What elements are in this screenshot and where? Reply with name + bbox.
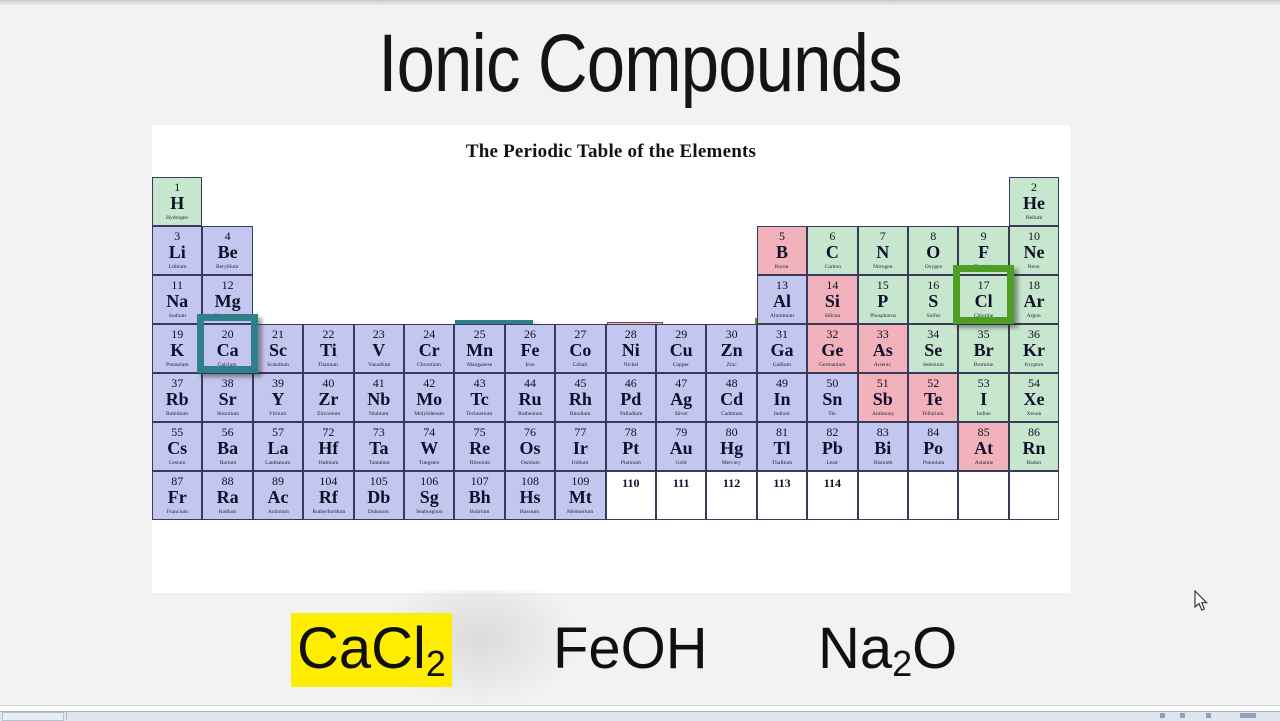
element-name: Sodium xyxy=(169,312,186,319)
element-symbol: Fe xyxy=(521,341,540,360)
element-name: Gallium xyxy=(773,361,791,368)
periodic-table-title: The Periodic Table of the Elements xyxy=(152,141,1070,163)
element-cell-cu[interactable]: 29CuCopper xyxy=(656,324,706,373)
element-symbol: Ti xyxy=(320,341,337,360)
element-cell-cd[interactable]: 48CdCadmium xyxy=(706,373,756,422)
element-cell-la[interactable]: 57LaLanthanum xyxy=(253,422,303,471)
atomic-number: 19 xyxy=(171,327,183,341)
element-cell-112[interactable]: 112 xyxy=(706,471,756,520)
element-cell-rh[interactable]: 45RhRhodium xyxy=(555,373,605,422)
atomic-number: 4 xyxy=(225,229,231,243)
atomic-number: 21 xyxy=(272,327,284,341)
element-cell-na[interactable]: 11NaSodium xyxy=(152,275,202,324)
element-cell-empty[interactable] xyxy=(958,471,1008,520)
element-symbol: Mn xyxy=(466,341,493,360)
atomic-number: 2 xyxy=(1031,180,1037,194)
element-cell-at[interactable]: 85AtAstatine xyxy=(958,422,1008,471)
atomic-number: 12 xyxy=(222,278,234,292)
element-cell-ac[interactable]: 89AcActinium xyxy=(253,471,303,520)
element-cell-pb[interactable]: 82PbLead xyxy=(807,422,857,471)
element-cell-hg[interactable]: 80HgMercury xyxy=(706,422,756,471)
element-name: Hassium xyxy=(520,508,539,515)
element-name: Zirconium xyxy=(317,410,340,417)
element-symbol: Rh xyxy=(569,390,592,409)
element-name: Ruthenium xyxy=(518,410,543,417)
element-name: Iridium xyxy=(572,459,589,466)
element-symbol: Mg xyxy=(215,292,241,311)
atomic-number: 5 xyxy=(779,229,785,243)
element-name: Antimony xyxy=(872,410,894,417)
atomic-number: 57 xyxy=(272,425,284,439)
element-name: Technetium xyxy=(467,410,493,417)
element-cell-mg[interactable]: 12MgMagnesium xyxy=(202,275,252,324)
atomic-number: 50 xyxy=(826,376,838,390)
atomic-number: 78 xyxy=(625,425,637,439)
atomic-number: 81 xyxy=(776,425,788,439)
element-symbol: Nb xyxy=(367,390,390,409)
element-cell-as[interactable]: 33AsArsenic xyxy=(858,324,908,373)
atomic-number: 6 xyxy=(829,229,835,243)
element-cell-mn[interactable]: 25MnManganese xyxy=(454,324,504,373)
formula-text: CaCl xyxy=(297,616,426,681)
atomic-number: 35 xyxy=(978,327,990,341)
element-name: Boron xyxy=(775,263,789,270)
element-symbol: Sr xyxy=(219,390,237,409)
element-symbol: Tc xyxy=(470,390,488,409)
atomic-number: 79 xyxy=(675,425,687,439)
atomic-number: 83 xyxy=(877,425,889,439)
element-cell-te[interactable]: 52TeTellurium xyxy=(908,373,958,422)
element-symbol: Fr xyxy=(168,488,187,507)
atomic-number: 76 xyxy=(524,425,536,439)
taskbar-clock[interactable] xyxy=(1240,713,1256,718)
taskbar-divider xyxy=(66,712,67,719)
element-name: Iron xyxy=(525,361,534,368)
element-cell-si[interactable]: 14SiSilicon xyxy=(807,275,857,324)
element-cell-ir[interactable]: 77IrIridium xyxy=(555,422,605,471)
element-symbol: Sc xyxy=(269,341,287,360)
element-symbol: Cd xyxy=(720,390,743,409)
taskbar-icon-2[interactable] xyxy=(1180,713,1185,718)
atomic-number: 52 xyxy=(927,376,939,390)
element-name: Rhenium xyxy=(469,459,489,466)
atomic-number: 34 xyxy=(927,327,939,341)
element-symbol: Ni xyxy=(622,341,640,360)
element-cell-ne[interactable]: 10NeNeon xyxy=(1009,226,1059,275)
atomic-number: 29 xyxy=(675,327,687,341)
element-cell-tl[interactable]: 81TlThallium xyxy=(757,422,807,471)
element-name: Neon xyxy=(1028,263,1040,270)
element-cell-b[interactable]: 5BBoron xyxy=(757,226,807,275)
element-cell-db[interactable]: 105DbDubnium xyxy=(354,471,404,520)
element-name: Phosphorus xyxy=(870,312,896,319)
element-symbol: Cr xyxy=(419,341,440,360)
element-cell-110[interactable]: 110 xyxy=(606,471,656,520)
element-name: Aluminum xyxy=(770,312,794,319)
element-name: Molybdenum xyxy=(414,410,444,417)
atomic-number: 1 xyxy=(174,180,180,194)
element-name: Osmium xyxy=(520,459,539,466)
element-cell-al[interactable]: 13AlAluminum xyxy=(757,275,807,324)
element-cell-ra[interactable]: 88RaRadium xyxy=(202,471,252,520)
slide-area: Ionic Compounds The Periodic Table of th… xyxy=(0,5,1280,705)
atomic-number: 75 xyxy=(474,425,486,439)
element-cell-sr[interactable]: 38SrStrontium xyxy=(202,373,252,422)
element-cell-114[interactable]: 114 xyxy=(807,471,857,520)
element-symbol: K xyxy=(170,341,184,360)
atomic-number: 40 xyxy=(322,376,334,390)
element-cell-ni[interactable]: 28NiNickel xyxy=(606,324,656,373)
element-symbol: Hf xyxy=(318,439,338,458)
element-cell-br[interactable]: 35BrBromine xyxy=(958,324,1008,373)
element-name: Barium xyxy=(219,459,236,466)
element-symbol: Ge xyxy=(821,341,843,360)
element-cell-sc[interactable]: 21ScScandium xyxy=(253,324,303,373)
element-symbol: W xyxy=(420,439,438,458)
element-symbol: Ir xyxy=(573,439,588,458)
atomic-number: 44 xyxy=(524,376,536,390)
element-cell-ga[interactable]: 31GaGallium xyxy=(757,324,807,373)
element-name: Titanium xyxy=(318,361,338,368)
element-symbol: Cl xyxy=(975,292,993,311)
element-name: Tungsten xyxy=(419,459,439,466)
element-name: Selenium xyxy=(923,361,944,368)
element-symbol: He xyxy=(1023,194,1045,213)
element-symbol: Ar xyxy=(1023,292,1044,311)
atomic-number: 30 xyxy=(726,327,738,341)
element-cell-o[interactable]: 8OOxygen xyxy=(908,226,958,275)
element-cell-cl[interactable]: 17ClChlorine xyxy=(958,275,1008,324)
element-symbol: Ne xyxy=(1023,243,1044,262)
element-cell-k[interactable]: 19KPotassium xyxy=(152,324,202,373)
element-symbol: Sn xyxy=(822,390,842,409)
atomic-number: 25 xyxy=(474,327,486,341)
atomic-number: 20 xyxy=(222,327,234,341)
element-symbol: Db xyxy=(367,488,390,507)
element-name: Copper xyxy=(673,361,689,368)
element-symbol: Bi xyxy=(874,439,891,458)
element-name: Rubidium xyxy=(166,410,188,417)
atomic-number: 73 xyxy=(373,425,385,439)
element-cell-empty[interactable] xyxy=(908,471,958,520)
element-name: Potassium xyxy=(166,361,189,368)
atomic-number: 22 xyxy=(322,327,334,341)
element-symbol: Rf xyxy=(319,488,338,507)
element-cell-fr[interactable]: 87FrFrancium xyxy=(152,471,202,520)
element-symbol: Ca xyxy=(217,341,239,360)
element-name: Arsenic xyxy=(874,361,891,368)
element-cell-ta[interactable]: 73TaTantalum xyxy=(354,422,404,471)
element-cell-w[interactable]: 74WTungsten xyxy=(404,422,454,471)
element-cell-empty[interactable] xyxy=(1009,471,1059,520)
element-cell-f[interactable]: 9FFluorine xyxy=(958,226,1008,275)
periodic-table-panel: The Periodic Table of the Elements Metal… xyxy=(152,125,1070,593)
atomic-number: 45 xyxy=(574,376,586,390)
element-symbol: Hg xyxy=(720,439,743,458)
element-cell-c[interactable]: 6CCarbon xyxy=(807,226,857,275)
formula-text: FeOH xyxy=(553,616,708,681)
element-name: Cadmium xyxy=(721,410,743,417)
element-symbol: O xyxy=(926,243,940,262)
element-cell-113[interactable]: 113 xyxy=(757,471,807,520)
element-symbol: Re xyxy=(469,439,490,458)
element-cell-zr[interactable]: 40ZrZirconium xyxy=(303,373,353,422)
atomic-number: 104 xyxy=(319,474,337,488)
element-name: Yttrium xyxy=(269,410,286,417)
element-cell-mt[interactable]: 109MtMeitnerium xyxy=(555,471,605,520)
element-name: Sulfur xyxy=(926,312,940,319)
element-symbol: C xyxy=(826,243,839,262)
atomic-number: 7 xyxy=(880,229,886,243)
formula-subscript: 2 xyxy=(892,643,912,684)
element-symbol: Ag xyxy=(670,390,692,409)
element-symbol: La xyxy=(267,439,288,458)
element-name: Germanium xyxy=(819,361,845,368)
atomic-number: 84 xyxy=(927,425,939,439)
atomic-number: 114 xyxy=(824,476,841,490)
element-symbol: Pt xyxy=(622,439,639,458)
element-cell-tc[interactable]: 43TcTechnetium xyxy=(454,373,504,422)
element-symbol: Xe xyxy=(1023,390,1044,409)
element-cell-cs[interactable]: 55CsCesium xyxy=(152,422,202,471)
element-cell-zn[interactable]: 30ZnZinc xyxy=(706,324,756,373)
atomic-number: 82 xyxy=(826,425,838,439)
atomic-number: 3 xyxy=(174,229,180,243)
atomic-number: 113 xyxy=(773,476,790,490)
element-symbol: Po xyxy=(923,439,943,458)
atomic-number: 105 xyxy=(370,474,388,488)
element-cell-ar[interactable]: 18ArArgon xyxy=(1009,275,1059,324)
element-name: Chromium xyxy=(417,361,441,368)
element-cell-v[interactable]: 23VVanadium xyxy=(354,324,404,373)
atomic-number: 23 xyxy=(373,327,385,341)
element-name: Radium xyxy=(219,508,236,515)
element-cell-p[interactable]: 15PPhosphorus xyxy=(858,275,908,324)
element-name: Silicon xyxy=(825,312,841,319)
atomic-number: 33 xyxy=(877,327,889,341)
atomic-number: 43 xyxy=(474,376,486,390)
element-symbol: N xyxy=(876,243,889,262)
atomic-number: 107 xyxy=(471,474,489,488)
atomic-number: 10 xyxy=(1028,229,1040,243)
element-symbol: Cs xyxy=(167,439,187,458)
element-cell-pt[interactable]: 78PtPlatinum xyxy=(606,422,656,471)
element-cell-111[interactable]: 111 xyxy=(656,471,706,520)
element-name: Palladium xyxy=(620,410,642,417)
atomic-number: 39 xyxy=(272,376,284,390)
atomic-number: 87 xyxy=(171,474,183,488)
element-name: Xenon xyxy=(1027,410,1042,417)
atomic-number: 13 xyxy=(776,278,788,292)
atomic-number: 16 xyxy=(927,278,939,292)
taskbar-icon-3[interactable] xyxy=(1206,713,1211,718)
element-name: Niobium xyxy=(369,410,389,417)
element-name: Bromine xyxy=(974,361,993,368)
atomic-number: 88 xyxy=(222,474,234,488)
element-cell-hf[interactable]: 72HfHafnium xyxy=(303,422,353,471)
element-cell-ca[interactable]: 20CaCalcium xyxy=(202,324,252,373)
element-cell-ag[interactable]: 47AgSilver xyxy=(656,373,706,422)
element-symbol: Se xyxy=(924,341,942,360)
atomic-number: 111 xyxy=(673,476,690,490)
element-cell-empty[interactable] xyxy=(858,471,908,520)
element-cell-re[interactable]: 75ReRhenium xyxy=(454,422,504,471)
element-name: Polonium xyxy=(922,459,943,466)
element-symbol: V xyxy=(372,341,385,360)
element-name: Zinc xyxy=(727,361,737,368)
atomic-number: 31 xyxy=(776,327,788,341)
atomic-number: 77 xyxy=(574,425,586,439)
element-cell-s[interactable]: 16SSulfur xyxy=(908,275,958,324)
element-symbol: Rn xyxy=(1022,439,1045,458)
element-cell-ba[interactable]: 56BaBarium xyxy=(202,422,252,471)
element-cell-in[interactable]: 49InIndium xyxy=(757,373,807,422)
atomic-number: 89 xyxy=(272,474,284,488)
element-symbol: As xyxy=(873,341,893,360)
element-symbol: Pb xyxy=(822,439,843,458)
element-name: Krypton xyxy=(1025,361,1043,368)
atomic-number: 41 xyxy=(373,376,385,390)
periodic-table-grid: 1HHydrogen2HeHelium3LiLithium4BeBerylliu… xyxy=(152,177,1070,581)
element-cell-nb[interactable]: 41NbNiobium xyxy=(354,373,404,422)
atomic-number: 37 xyxy=(171,376,183,390)
element-symbol: Kr xyxy=(1023,341,1045,360)
element-symbol: Na xyxy=(166,292,188,311)
element-cell-se[interactable]: 34SeSelenium xyxy=(908,324,958,373)
element-name: Vanadium xyxy=(368,361,390,368)
element-symbol: Ba xyxy=(217,439,238,458)
page-title: Ionic Compounds xyxy=(102,15,1177,113)
element-cell-po[interactable]: 84PoPolonium xyxy=(908,422,958,471)
atomic-number: 36 xyxy=(1028,327,1040,341)
element-cell-n[interactable]: 7NNitrogen xyxy=(858,226,908,275)
element-symbol: Li xyxy=(169,243,186,262)
element-cell-pd[interactable]: 46PdPalladium xyxy=(606,373,656,422)
element-symbol: Ra xyxy=(217,488,239,507)
atomic-number: 85 xyxy=(978,425,990,439)
element-cell-rn[interactable]: 86RnRadon xyxy=(1009,422,1059,471)
element-cell-fe[interactable]: 26FeIron xyxy=(505,324,555,373)
atomic-number: 28 xyxy=(625,327,637,341)
element-name: Lanthanum xyxy=(265,459,290,466)
atomic-number: 55 xyxy=(171,425,183,439)
element-cell-ge[interactable]: 32GeGermanium xyxy=(807,324,857,373)
element-name: Astatine xyxy=(974,459,992,466)
element-cell-i[interactable]: 53IIodine xyxy=(958,373,1008,422)
element-cell-bi[interactable]: 83BiBismuth xyxy=(858,422,908,471)
element-cell-he[interactable]: 2HeHelium xyxy=(1009,177,1059,226)
element-name: Bismuth xyxy=(873,459,892,466)
atomic-number: 15 xyxy=(877,278,889,292)
element-name: Rhodium xyxy=(570,410,591,417)
formula-cacl2: CaCl2 xyxy=(291,613,452,687)
element-symbol: Te xyxy=(924,390,942,409)
element-symbol: Y xyxy=(271,390,284,409)
atomic-number: 8 xyxy=(930,229,936,243)
element-name: Seaborgium xyxy=(416,508,443,515)
atomic-number: 80 xyxy=(726,425,738,439)
element-cell-li[interactable]: 3LiLithium xyxy=(152,226,202,275)
element-name: Fluorine xyxy=(974,263,993,270)
element-cell-mo[interactable]: 42MoMolybdenum xyxy=(404,373,454,422)
element-symbol: Bh xyxy=(469,488,491,507)
atomic-number: 27 xyxy=(574,327,586,341)
element-cell-bh[interactable]: 107BhBohrium xyxy=(454,471,504,520)
element-name: Actinium xyxy=(268,508,289,515)
element-name: Cobalt xyxy=(573,361,588,368)
atomic-number: 112 xyxy=(723,476,740,490)
element-symbol: Ta xyxy=(369,439,388,458)
element-name: Hydrogen xyxy=(166,214,188,221)
element-cell-sg[interactable]: 106SgSeaborgium xyxy=(404,471,454,520)
element-cell-cr[interactable]: 24CrChromium xyxy=(404,324,454,373)
element-name: Cesium xyxy=(169,459,186,466)
element-symbol: Ru xyxy=(518,390,541,409)
element-name: Nickel xyxy=(623,361,638,368)
element-name: Mercury xyxy=(722,459,741,466)
atomic-number: 51 xyxy=(877,376,889,390)
element-name: Tin xyxy=(829,410,836,417)
atomic-number: 48 xyxy=(726,376,738,390)
element-cell-xe[interactable]: 54XeXenon xyxy=(1009,373,1059,422)
element-name: Scandium xyxy=(267,361,289,368)
element-name: Manganese xyxy=(467,361,492,368)
atomic-number: 56 xyxy=(222,425,234,439)
element-symbol: B xyxy=(776,243,788,262)
element-name: Platinum xyxy=(621,459,641,466)
element-cell-sb[interactable]: 51SbAntimony xyxy=(858,373,908,422)
atomic-number: 53 xyxy=(978,376,990,390)
element-cell-ti[interactable]: 22TiTitanium xyxy=(303,324,353,373)
atomic-number: 106 xyxy=(420,474,438,488)
atomic-number: 38 xyxy=(222,376,234,390)
element-name: Indium xyxy=(774,410,790,417)
atomic-number: 32 xyxy=(826,327,838,341)
element-symbol: Cu xyxy=(670,341,693,360)
element-cell-co[interactable]: 27CoCobalt xyxy=(555,324,605,373)
formula-text: Na xyxy=(818,616,892,681)
element-name: Lithium xyxy=(168,263,186,270)
atomic-number: 18 xyxy=(1028,278,1040,292)
element-cell-hs[interactable]: 108HsHassium xyxy=(505,471,555,520)
atomic-number: 54 xyxy=(1028,376,1040,390)
element-cell-kr[interactable]: 36KrKrypton xyxy=(1009,324,1059,373)
element-cell-rf[interactable]: 104RfRutherfordium xyxy=(303,471,353,520)
element-cell-rb[interactable]: 37RbRubidium xyxy=(152,373,202,422)
element-cell-be[interactable]: 4BeBeryllium xyxy=(202,226,252,275)
taskbar-icon-1[interactable] xyxy=(1160,713,1165,718)
element-cell-h[interactable]: 1HHydrogen xyxy=(152,177,202,226)
element-cell-os[interactable]: 76OsOsmium xyxy=(505,422,555,471)
atomic-number: 109 xyxy=(571,474,589,488)
element-name: Calcium xyxy=(218,361,237,368)
element-symbol: Sg xyxy=(420,488,439,507)
element-name: Iodine xyxy=(977,410,991,417)
element-cell-ru[interactable]: 44RuRuthenium xyxy=(505,373,555,422)
element-cell-y[interactable]: 39YYttrium xyxy=(253,373,303,422)
element-symbol: Tl xyxy=(773,439,790,458)
element-cell-au[interactable]: 79AuGold xyxy=(656,422,706,471)
element-cell-sn[interactable]: 50SnTin xyxy=(807,373,857,422)
element-symbol: Mo xyxy=(416,390,442,409)
atomic-number: 47 xyxy=(675,376,687,390)
element-name: Carbon xyxy=(824,263,840,270)
element-name: Meitnerium xyxy=(567,508,593,515)
element-name: Magnesium xyxy=(215,312,241,319)
formula-text: O xyxy=(912,616,957,681)
element-name: Strontium xyxy=(217,410,239,417)
element-symbol: Sb xyxy=(873,390,893,409)
